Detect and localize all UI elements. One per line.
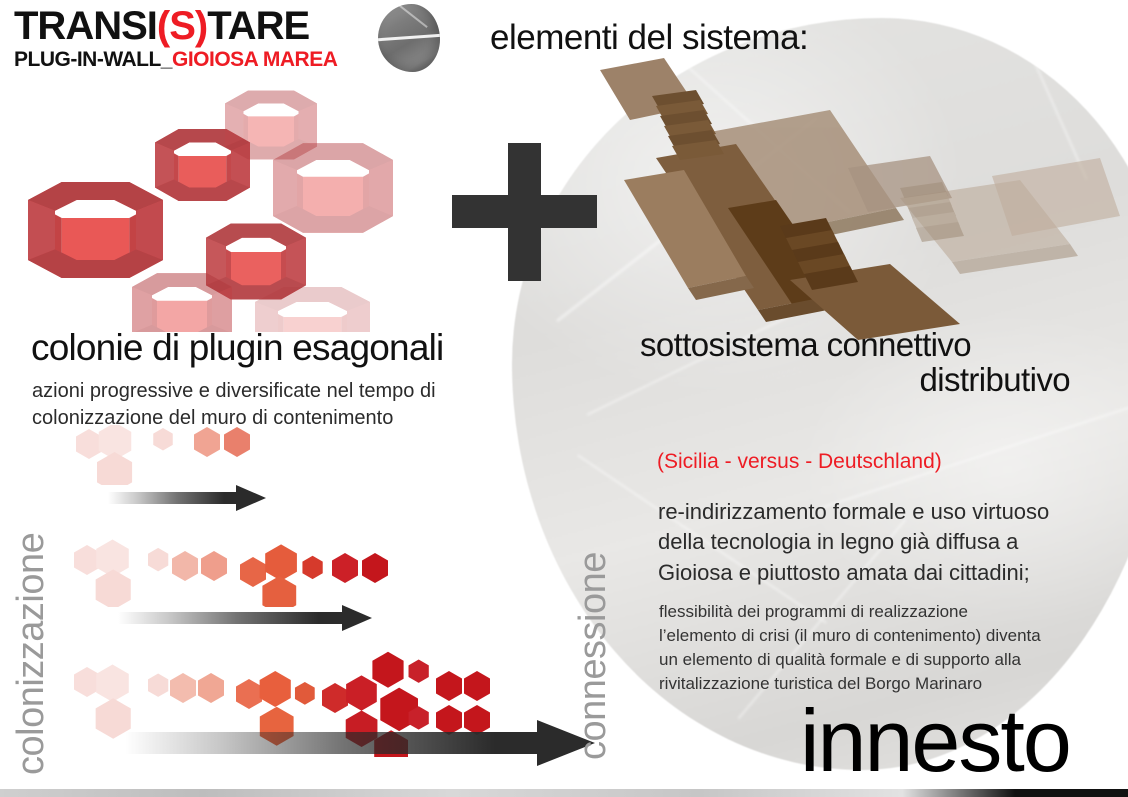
paragraph-1-line-3: Gioiosa e piuttosto amata dai cittadini; [658,558,1049,588]
vertical-label-colonizzazione: colonizzazione [10,533,53,775]
pebble-crack-line [378,33,440,41]
wooden-ramp-stair-network [600,48,1120,340]
progress-arrow-stage-3 [125,720,595,766]
stone-vein [821,389,1128,508]
subtitle-colonie: azioni progressive e diversificate nel t… [32,378,436,432]
bottom-edge-strip [0,789,1128,797]
3d-hexagonal-plugin-rings [20,62,470,332]
subtitle-colonie-line-1: azioni progressive e diversificate nel t… [32,378,436,405]
plus-vertical-bar [508,143,541,281]
arrow-head [342,605,372,631]
logo-title-paren: (S) [157,4,207,48]
colonisation-row-1-hexagons [70,425,400,485]
heading-sottosistema-line-2: distributivo [640,363,1070,398]
pebble-crack-line-secondary [390,4,427,28]
slide-canvas: TRANSI(S)TARE PLUG-IN-WALL_GIOIOSA MAREA… [0,0,1128,797]
wood-stair-upper-left [652,90,724,160]
project-logo: TRANSI(S)TARE PLUG-IN-WALL_GIOIOSA MAREA [14,6,337,70]
paragraph-2-line-2: l’elemento di crisi (il muro di contenim… [659,624,1041,648]
colonisation-row-2-hexagons [70,537,410,607]
paragraph-flessibilita-programmi: flessibilità dei programmi di realizzazi… [659,600,1041,697]
arrow-shaft [125,732,545,754]
paragraph-1-line-1: re-indirizzamento formale e uso virtuoso [658,497,1049,527]
heading-colonie-plugin: colonie di plugin esagonali [31,327,443,369]
plus-sign-icon [452,143,597,281]
wood-ramp-back-far-right [992,158,1120,236]
text-sicilia-versus-deutschland: (Sicilia - versus - Deutschland) [657,450,942,474]
paragraph-2-line-3: un elemento di qualità formale e di supp… [659,648,1041,672]
arrow-shaft [108,492,240,504]
colonisation-progression [70,425,590,785]
arrow-shaft [118,612,346,624]
vertical-label-connessione: connessione [572,552,615,760]
arrow-head [236,485,266,511]
hex-ring-cluster-svg [20,62,470,332]
wood-system-svg [600,48,1120,340]
progress-arrow-stage-1 [108,485,268,511]
paragraph-2-line-1: flessibilità dei programmi di realizzazi… [659,600,1041,624]
logo-title: TRANSI(S)TARE [14,6,337,46]
logo-title-part2: TARE [207,4,309,48]
progress-arrow-stage-2 [118,605,378,631]
logo-title-part1: TRANSI [14,4,157,48]
paragraph-1-line-2: della tecnologia in legno già diffusa a [658,527,1049,557]
paragraph-tecnologia-legno: re-indirizzamento formale e uso virtuoso… [658,497,1049,588]
word-innesto: innesto [800,697,1070,785]
